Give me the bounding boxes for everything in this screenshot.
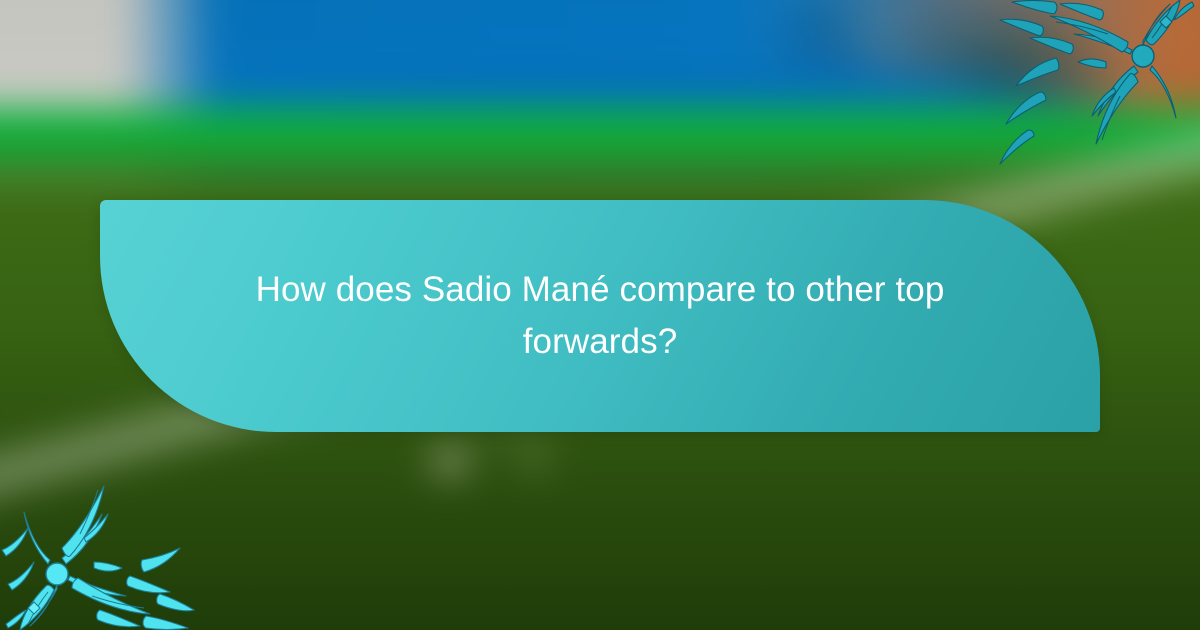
screenshot-canvas: How does Sadio Mané compare to other top…: [0, 0, 1200, 630]
question-card: How does Sadio Mané compare to other top…: [100, 200, 1100, 432]
question-text: How does Sadio Mané compare to other top…: [215, 264, 985, 368]
